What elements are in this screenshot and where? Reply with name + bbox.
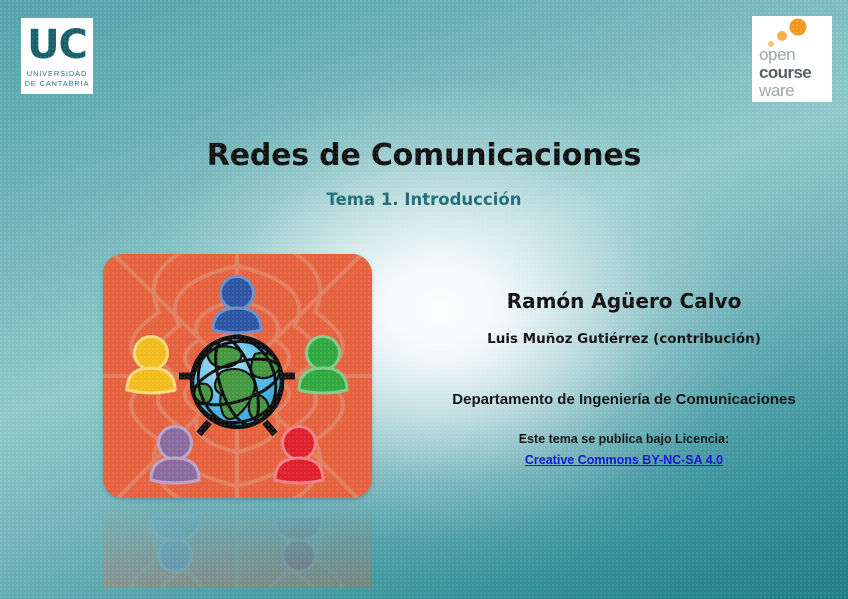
author-name: Ramón Agüero Calvo (424, 290, 824, 312)
network-of-people-illustration (103, 254, 372, 498)
presentation-slide: UC UNIVERSIDAD DE CANTABRIA open course … (0, 0, 848, 599)
opencourseware-logo: open course ware (752, 16, 832, 102)
ocw-word-ware: ware (759, 82, 831, 99)
ocw-word-open: open (759, 46, 831, 63)
uc-university-logo: UC UNIVERSIDAD DE CANTABRIA (21, 18, 93, 94)
license-label: Este tema se publica bajo Licencia: (424, 432, 824, 446)
uc-logo-line2: DE CANTABRIA (25, 79, 90, 88)
uc-monogram: UC (27, 26, 87, 64)
ocw-wordmark: open course ware (759, 46, 831, 99)
creative-commons-license-link[interactable]: Creative Commons BY-NC-SA 4.0 (525, 453, 723, 467)
slide-title: Redes de Comunicaciones (0, 138, 848, 173)
uc-logo-line1: UNIVERSIDAD (27, 69, 87, 78)
ocw-word-course: course (759, 64, 831, 81)
slide-subtitle: Tema 1. Introducción (0, 190, 848, 209)
reflection-svg (103, 500, 372, 588)
contributor-name: Luis Muñoz Gutiérrez (contribución) (424, 331, 824, 347)
illustration-reflection (103, 500, 372, 588)
department-name: Departamento de Ingeniería de Comunicaci… (424, 391, 824, 408)
illustration-container (103, 254, 372, 498)
credits-block: Ramón Agüero Calvo Luis Muñoz Gutiérrez … (424, 290, 824, 469)
network-diagram-svg (103, 254, 372, 498)
